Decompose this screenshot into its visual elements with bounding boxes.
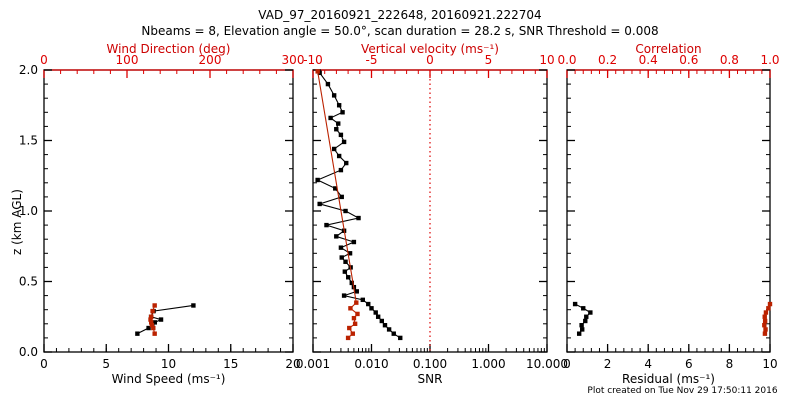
panel-2-data-point [348,306,352,310]
panel-2-data-point [342,140,346,144]
panel-3-xtick-label: 0 [563,357,571,371]
panel-1-data-point [150,309,154,313]
panel3-top-axis-label: Correlation [567,42,770,56]
y-axis-tick-label: 0.5 [19,275,38,289]
panel-3-data-point [762,323,766,327]
panel-1-xtick-label: 10 [161,357,176,371]
panel-1-data-point [149,315,153,319]
panel-2-data-point [347,326,351,330]
panel-2-data-point [398,336,402,340]
panel-2-data-point [337,103,341,107]
panel-3-data-point [581,306,585,310]
panel-3-data-point [573,302,577,306]
panel-3-xtick-label: 4 [644,357,652,371]
panel-2-data-point [343,260,347,264]
panel-3-xtick-label: 6 [685,357,693,371]
panel-2-data-point [324,223,328,227]
panel-3-xtick-label: 10 [762,357,777,371]
panel-3-data-point [766,306,770,310]
panel-2-data-point [317,202,321,206]
panel-2-data-point [339,133,343,137]
panel-2-data-point [332,147,336,151]
panel-2-data-point [387,327,391,331]
panel-3-data-point [580,327,584,331]
y-axis-tick-label: 1.0 [19,204,38,218]
panel-3-data-point [763,315,767,319]
panel-2-data-point [352,316,356,320]
panel-2-data-point [376,315,380,319]
panel-2-series-line-0 [318,73,401,338]
panel-2-data-point [328,116,332,120]
panel-1-xtick-label: 0 [40,357,48,371]
panel-2-data-point [351,331,355,335]
panel-2-xtick-label: 0.001 [296,357,330,371]
panel-3-data-point [584,315,588,319]
panel-2-data-point [343,209,347,213]
panel-1-data-point [152,331,156,335]
panel-2-data-point [366,302,370,306]
panel-2-data-point [356,216,360,220]
panel-2-data-point [392,331,396,335]
panel-2-data-point [383,323,387,327]
y-axis-tick-label: 1.5 [19,134,38,148]
panel-2-data-point [342,293,346,297]
panel-1-data-point [191,303,195,307]
panel2-top-axis-label: Vertical velocity (ms⁻¹) [313,42,547,56]
panel-3-data-point [763,331,767,335]
plot-created-footer: Plot created on Tue Nov 29 17:50:11 2016 [570,386,795,396]
panel-2-data-point [315,69,319,73]
panel-2-data-point [346,275,350,279]
panel-1-data-point [135,331,139,335]
panel-3-data-point [764,310,768,314]
panel-2-data-point [344,161,348,165]
panel-2-xtick-label: 0.100 [413,357,447,371]
panel-2-data-point [369,306,373,310]
panel-3-data-point [579,323,583,327]
panel-1-data-point [152,303,156,307]
panel-2-data-point [334,127,338,131]
panel-2-data-point [315,178,319,182]
y-axis-tick-label: 2.0 [19,63,38,77]
panel-2-xtick-label: 1.000 [471,357,505,371]
panel-3-data-point [763,327,767,331]
panel1-bottom-axis-label: Wind Speed (ms⁻¹) [44,372,293,386]
panel-2-data-point [340,110,344,114]
panel-2-data-point [353,322,357,326]
panel-2-data-point [336,121,340,125]
panel-1-frame [44,70,293,352]
panel-2-data-point [355,312,359,316]
panel-2-data-point [346,336,350,340]
panel-1-xtick-label: 5 [102,357,110,371]
panel-2-data-point [352,240,356,244]
panel1-top-axis-label: Wind Direction (deg) [44,42,293,56]
panel-2-data-point [334,234,338,238]
panel-2-data-point [380,319,384,323]
panel-3-data-point [583,319,587,323]
panel-2-data-point [332,93,336,97]
panel3-bottom-axis-label: Residual (ms⁻¹) [567,372,770,386]
panel-2-data-point [339,168,343,172]
panel2-bottom-axis-label: SNR [313,372,547,386]
panel-3-data-point [768,302,772,306]
panel-2-data-point [340,255,344,259]
panel-2-data-point [361,298,365,302]
panel-2-data-point [343,269,347,273]
panel-2-data-point [374,310,378,314]
vad-plot-figure: VAD_97_20160921_222648, 20160921.222704 … [0,0,800,400]
plot-canvas: 0510152001002003000.00.51.01.52.00.0010.… [0,0,800,400]
panel-1-xtick-label: 15 [223,357,238,371]
panel-2-xtick-label: 0.010 [354,357,388,371]
panel-2-data-point [355,289,359,293]
panel-2-data-point [354,300,358,304]
panel-3-data-point [763,319,767,323]
panel-3-frame [567,70,770,352]
panel-3-data-point [577,331,581,335]
panel-1-data-point [159,317,163,321]
panel-2-data-point [339,245,343,249]
panel-3-xtick-label: 2 [604,357,612,371]
panel-1-series-line-0 [137,305,193,333]
panel-2-xtick-label: 10.000 [526,357,568,371]
panel-3-data-point [588,310,592,314]
panel-2-data-point [340,195,344,199]
panel-3-xtick-label: 8 [726,357,734,371]
panel-2-data-point [337,154,341,158]
panel-2-data-point [326,82,330,86]
y-axis-tick-label: 0.0 [19,345,38,359]
